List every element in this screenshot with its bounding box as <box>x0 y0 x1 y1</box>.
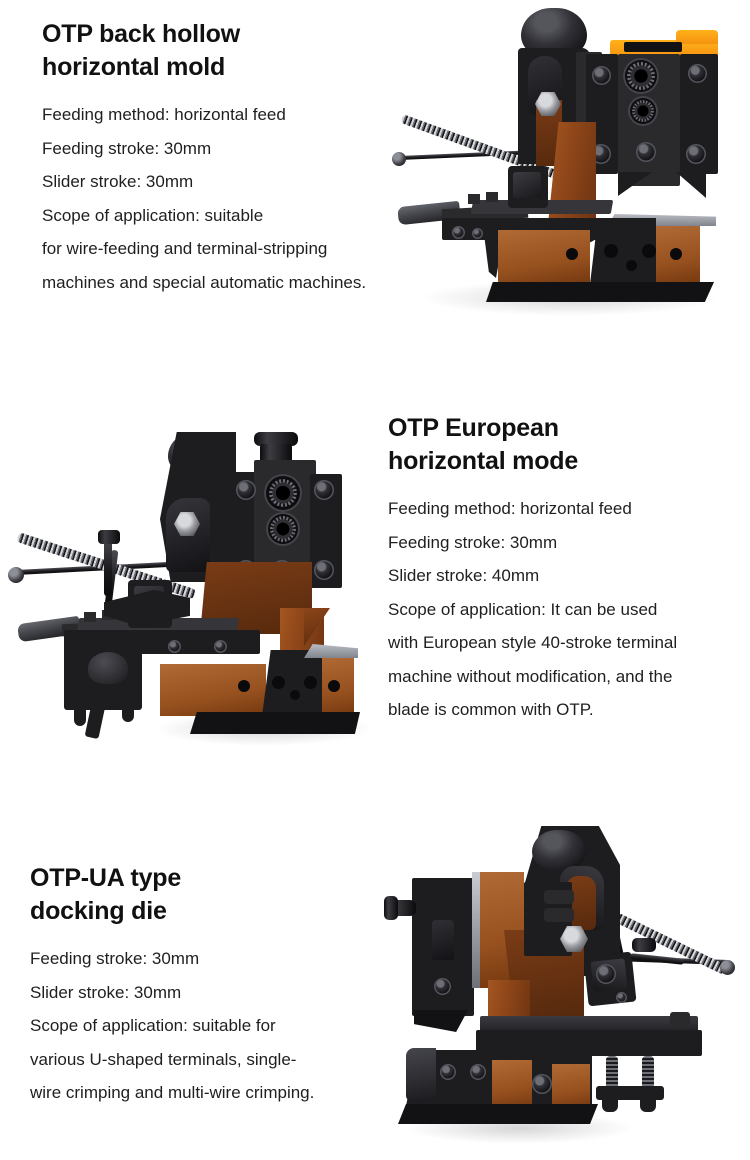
product-3-title: OTP-UA type docking die <box>30 862 370 928</box>
lever-ball-tip <box>720 960 735 975</box>
product-2-text-column: OTP European horizontal mode Feeding met… <box>388 412 736 727</box>
post-foot-left <box>602 1098 618 1112</box>
base-copper-block-left <box>492 1060 532 1108</box>
die-bolt-right-bottom <box>686 144 706 164</box>
base-bolt-b <box>470 1064 486 1080</box>
left-housing-lower-lip <box>414 1010 468 1032</box>
base-hole-1 <box>238 680 250 692</box>
die-bolt-left-top <box>236 480 256 500</box>
spec-item: Feeding stroke: 30mm <box>42 132 382 166</box>
jaw-link <box>104 536 112 596</box>
housing-foot-right <box>122 708 134 722</box>
slider-bolt-right <box>214 640 227 653</box>
product-1-image <box>380 4 746 310</box>
base-copper-block-right <box>552 1064 590 1108</box>
base-plate <box>486 282 714 302</box>
cam-housing-face <box>513 172 541 198</box>
spec-item: Scope of application: suitable for wire-… <box>42 199 382 300</box>
adjustment-dial-upper <box>623 58 659 94</box>
die-bolt-right-top <box>314 480 334 500</box>
cam-bolt-small <box>616 992 627 1003</box>
adjustment-dial-lower <box>628 96 658 126</box>
product-section-2: OTP European horizontal mode Feeding met… <box>0 390 750 780</box>
base-bolt-a <box>440 1064 456 1080</box>
threaded-post-right <box>642 1056 654 1090</box>
spec-item: Feeding stroke: 30mm <box>30 942 370 976</box>
product-2-title: OTP European horizontal mode <box>388 412 736 478</box>
spec-item: Scope of application: It can be used wit… <box>388 593 736 727</box>
base-hole-5 <box>328 680 340 692</box>
base-center-bolt <box>532 1074 552 1094</box>
jaw-knob <box>98 530 120 544</box>
cam-bolt <box>596 964 616 984</box>
base-hole-3 <box>290 690 300 700</box>
base-plate <box>398 1104 598 1124</box>
base-hole-5 <box>670 248 682 260</box>
base-hole-4 <box>304 676 317 689</box>
feed-stud-a <box>84 612 96 622</box>
adjustment-dial-lower <box>266 512 300 546</box>
product-3-text-column: OTP-UA type docking die Feeding stroke: … <box>30 862 370 1110</box>
left-housing-tab <box>432 920 454 960</box>
left-housing-bolt <box>434 978 451 995</box>
spec-item: Feeding method: horizontal feed <box>388 492 736 526</box>
slider-rail-end-tab <box>670 1012 690 1028</box>
product-2-image <box>4 412 364 742</box>
copper-plate-edge <box>472 872 480 988</box>
base-hole-3 <box>626 260 637 271</box>
base-hole-2 <box>604 244 618 258</box>
product-3-spec-list: Feeding stroke: 30mm Slider stroke: 30mm… <box>30 942 370 1110</box>
adjustment-dial-upper <box>264 474 302 512</box>
die-bolt-right-bottom <box>314 560 334 580</box>
product-3-image <box>384 820 746 1150</box>
orange-top-plate-riser <box>676 30 718 44</box>
base-hole-2 <box>272 676 285 689</box>
base-hole-4 <box>642 244 656 258</box>
feed-stud-b <box>486 192 498 202</box>
center-pin-b <box>544 908 574 922</box>
product-1-title: OTP back hollow horizontal mold <box>42 18 382 84</box>
spec-item: Slider stroke: 30mm <box>42 165 382 199</box>
base-copper-left <box>160 664 266 716</box>
base-plate <box>190 712 360 734</box>
cam-link-rod <box>630 953 684 965</box>
post-foot-right <box>640 1098 656 1112</box>
lever-ball-tip <box>8 567 24 583</box>
die-block-slot <box>624 42 682 52</box>
product-section-1: OTP back hollow horizontal mold Feeding … <box>0 0 750 390</box>
feed-stud-a <box>468 194 480 204</box>
spec-item: Scope of application: suitable for vario… <box>30 1009 370 1110</box>
die-block-bottom-taper-right <box>676 172 706 198</box>
product-section-3: OTP-UA type docking die Feeding stroke: … <box>0 780 750 1160</box>
slider-bolt-mid <box>472 228 483 239</box>
spec-item: Feeding stroke: 30mm <box>388 526 736 560</box>
left-housing-round-cap <box>88 652 128 684</box>
slider-bolt-left <box>452 226 465 239</box>
top-cap <box>532 830 586 870</box>
die-bolt-right-top <box>688 64 707 83</box>
base-top-chamfer <box>304 644 358 658</box>
base-left-chamfer <box>406 1048 436 1100</box>
side-knob <box>632 938 656 952</box>
spec-item: Slider stroke: 30mm <box>30 976 370 1010</box>
center-pin-a <box>544 890 574 904</box>
product-2-spec-list: Feeding method: horizontal feed Feeding … <box>388 492 736 727</box>
lever-ball-tip <box>392 152 406 166</box>
housing-foot-left <box>74 708 86 726</box>
product-1-spec-list: Feeding method: horizontal feed Feeding … <box>42 98 382 299</box>
product-1-text-column: OTP back hollow horizontal mold Feeding … <box>42 18 382 299</box>
spec-item: Feeding method: horizontal feed <box>42 98 382 132</box>
die-bolt-left-top <box>592 66 611 85</box>
left-adjust-knob-cap <box>384 896 398 920</box>
threaded-post-left <box>606 1056 618 1090</box>
slider-bolt-left <box>168 640 181 653</box>
die-bolt-center-bottom <box>636 142 656 162</box>
spec-item: Slider stroke: 40mm <box>388 559 736 593</box>
base-hole-1 <box>566 248 578 260</box>
